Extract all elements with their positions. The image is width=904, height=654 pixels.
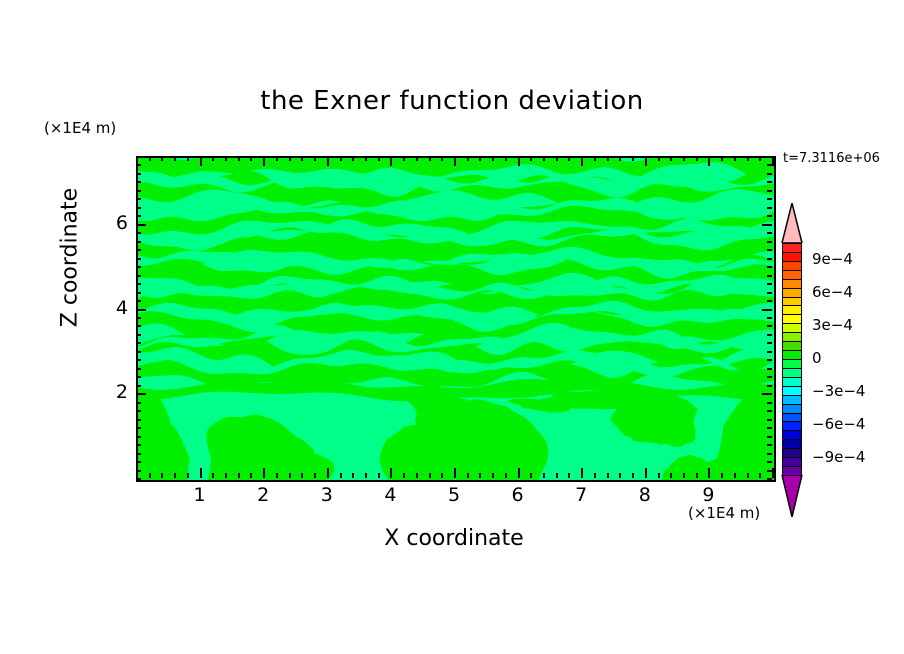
- x-major-tick-top: [454, 156, 456, 166]
- x-major-tick: [200, 468, 202, 478]
- y-minor-tick: [136, 232, 141, 234]
- y-minor-tick: [136, 164, 141, 166]
- x-minor-tick: [721, 473, 723, 478]
- y-minor-tick-right: [767, 300, 772, 302]
- x-minor-tick-top: [174, 156, 176, 161]
- x-minor-tick: [747, 473, 749, 478]
- x-major-tick: [454, 468, 456, 478]
- x-minor-tick: [403, 473, 405, 478]
- x-tick-label: 6: [498, 484, 538, 506]
- y-minor-tick-right: [767, 436, 772, 438]
- y-minor-tick: [136, 427, 141, 429]
- y-minor-tick: [136, 342, 141, 344]
- colorbar-tick-label: −6e−4: [812, 415, 865, 433]
- x-minor-tick-top: [441, 156, 443, 161]
- time-annotation: t=7.3116e+06: [783, 151, 880, 166]
- contour-field: [138, 158, 774, 480]
- colorbar-tick-label: −9e−4: [812, 448, 865, 466]
- x-tick-label: 5: [434, 484, 474, 506]
- x-minor-tick: [250, 473, 252, 478]
- y-minor-tick: [136, 359, 141, 361]
- x-minor-tick-top: [276, 156, 278, 161]
- y-minor-tick: [136, 385, 141, 387]
- x-minor-tick: [161, 473, 163, 478]
- x-major-tick: [327, 468, 329, 478]
- y-tick-label: 6: [88, 212, 128, 234]
- y-minor-tick-right: [767, 190, 772, 192]
- y-minor-tick-right: [767, 351, 772, 353]
- x-minor-tick-top: [161, 156, 163, 161]
- x-minor-tick: [276, 473, 278, 478]
- y-minor-tick-right: [767, 249, 772, 251]
- y-major-tick: [136, 224, 146, 226]
- x-minor-tick: [416, 473, 418, 478]
- colorbar-tick-label: −3e−4: [812, 382, 865, 400]
- x-minor-tick: [759, 473, 761, 478]
- x-minor-tick-top: [378, 156, 380, 161]
- x-minor-tick: [187, 473, 189, 478]
- x-minor-tick-top: [658, 156, 660, 161]
- x-tick-label: 1: [180, 484, 220, 506]
- y-minor-tick-right: [767, 215, 772, 217]
- x-minor-tick-top: [505, 156, 507, 161]
- y-minor-tick: [136, 300, 141, 302]
- y-minor-tick: [136, 181, 141, 183]
- x-minor-tick: [174, 473, 176, 478]
- x-minor-tick-top: [340, 156, 342, 161]
- y-minor-tick-right: [767, 427, 772, 429]
- y-axis-units-label: (×1E4 m): [44, 119, 116, 137]
- y-minor-tick-right: [767, 173, 772, 175]
- y-minor-tick-right: [767, 453, 772, 455]
- x-minor-tick-top: [556, 156, 558, 161]
- x-major-tick: [645, 468, 647, 478]
- y-minor-tick: [136, 275, 141, 277]
- y-minor-tick: [136, 351, 141, 353]
- x-minor-tick-top: [416, 156, 418, 161]
- y-minor-tick-right: [767, 292, 772, 294]
- page-title: the Exner function deviation: [0, 86, 904, 116]
- x-major-tick-top: [327, 156, 329, 166]
- x-minor-tick-top: [238, 156, 240, 161]
- x-minor-tick: [619, 473, 621, 478]
- y-minor-tick-right: [767, 275, 772, 277]
- y-minor-tick-right: [767, 241, 772, 243]
- x-tick-label: 8: [625, 484, 665, 506]
- y-major-tick-right: [762, 309, 772, 311]
- x-minor-tick-top: [696, 156, 698, 161]
- x-minor-tick-top: [747, 156, 749, 161]
- x-tick-label: 9: [688, 484, 728, 506]
- x-major-tick: [581, 468, 583, 478]
- y-minor-tick: [136, 258, 141, 260]
- x-minor-tick: [289, 473, 291, 478]
- x-minor-tick-top: [568, 156, 570, 161]
- y-minor-tick: [136, 478, 141, 480]
- y-axis-title: Z coordinate: [58, 138, 83, 378]
- y-major-tick: [136, 393, 146, 395]
- x-minor-tick-top: [721, 156, 723, 161]
- y-minor-tick: [136, 325, 141, 327]
- x-major-tick-top: [645, 156, 647, 166]
- contour-plot-area: [136, 156, 776, 482]
- y-minor-tick-right: [767, 156, 772, 158]
- colorbar-under-arrow: [779, 475, 805, 517]
- y-minor-tick-right: [767, 402, 772, 404]
- y-minor-tick-right: [767, 419, 772, 421]
- x-major-tick-top: [581, 156, 583, 166]
- y-minor-tick-right: [767, 258, 772, 260]
- x-tick-label: 2: [243, 484, 283, 506]
- x-minor-tick: [479, 473, 481, 478]
- x-minor-tick-top: [492, 156, 494, 161]
- y-minor-tick-right: [767, 207, 772, 209]
- y-minor-tick-right: [767, 461, 772, 463]
- x-tick-label: 4: [370, 484, 410, 506]
- x-minor-tick-top: [467, 156, 469, 161]
- x-minor-tick-top: [314, 156, 316, 161]
- x-minor-tick: [568, 473, 570, 478]
- x-major-tick-top: [390, 156, 392, 166]
- x-minor-tick: [696, 473, 698, 478]
- y-minor-tick: [136, 292, 141, 294]
- x-minor-tick-top: [429, 156, 431, 161]
- x-tick-label: 3: [307, 484, 347, 506]
- colorbar-tick-label: 6e−4: [812, 283, 853, 301]
- x-minor-tick-top: [250, 156, 252, 161]
- x-minor-tick: [238, 473, 240, 478]
- colorbar: [779, 203, 805, 517]
- x-minor-tick-top: [543, 156, 545, 161]
- x-minor-tick: [683, 473, 685, 478]
- y-minor-tick-right: [767, 232, 772, 234]
- x-major-tick: [772, 468, 774, 478]
- y-minor-tick: [136, 419, 141, 421]
- x-minor-tick: [594, 473, 596, 478]
- plot-canvas: the Exner function deviation (×1E4 m) (×…: [0, 0, 904, 654]
- x-minor-tick-top: [479, 156, 481, 161]
- colorbar-tick-label: 3e−4: [812, 316, 853, 334]
- y-minor-tick-right: [767, 478, 772, 480]
- x-major-tick: [263, 468, 265, 478]
- x-major-tick-top: [263, 156, 265, 166]
- x-minor-tick-top: [149, 156, 151, 161]
- x-minor-tick-top: [619, 156, 621, 161]
- colorbar-tick-label: 0: [812, 349, 822, 367]
- x-tick-label: 7: [561, 484, 601, 506]
- x-major-tick-top: [772, 156, 774, 166]
- x-major-tick: [708, 468, 710, 478]
- x-major-tick-top: [200, 156, 202, 166]
- x-minor-tick: [505, 473, 507, 478]
- colorbar-over-arrow: [779, 203, 805, 243]
- x-minor-tick-top: [301, 156, 303, 161]
- x-minor-tick: [632, 473, 634, 478]
- y-minor-tick-right: [767, 164, 772, 166]
- y-minor-tick: [136, 444, 141, 446]
- x-major-tick-top: [518, 156, 520, 166]
- x-minor-tick-top: [225, 156, 227, 161]
- x-minor-tick: [365, 473, 367, 478]
- y-minor-tick: [136, 266, 141, 268]
- y-minor-tick-right: [767, 385, 772, 387]
- y-major-tick-right: [762, 393, 772, 395]
- y-minor-tick-right: [767, 317, 772, 319]
- x-minor-tick-top: [734, 156, 736, 161]
- y-minor-tick-right: [767, 342, 772, 344]
- y-minor-tick: [136, 249, 141, 251]
- y-minor-tick-right: [767, 359, 772, 361]
- x-minor-tick: [429, 473, 431, 478]
- y-minor-tick-right: [767, 325, 772, 327]
- x-major-tick-top: [708, 156, 710, 166]
- x-major-tick: [390, 468, 392, 478]
- x-minor-tick-top: [530, 156, 532, 161]
- x-axis-units-label: (×1E4 m): [688, 504, 760, 522]
- y-minor-tick: [136, 470, 141, 472]
- x-minor-tick: [543, 473, 545, 478]
- y-minor-tick: [136, 402, 141, 404]
- x-minor-tick: [492, 473, 494, 478]
- y-minor-tick: [136, 283, 141, 285]
- x-minor-tick-top: [594, 156, 596, 161]
- x-minor-tick: [658, 473, 660, 478]
- y-tick-label: 4: [88, 297, 128, 319]
- x-minor-tick: [734, 473, 736, 478]
- y-minor-tick-right: [767, 444, 772, 446]
- y-minor-tick: [136, 453, 141, 455]
- y-minor-tick-right: [767, 410, 772, 412]
- y-minor-tick-right: [767, 470, 772, 472]
- y-major-tick-right: [762, 224, 772, 226]
- x-minor-tick-top: [683, 156, 685, 161]
- y-minor-tick-right: [767, 181, 772, 183]
- x-minor-tick-top: [670, 156, 672, 161]
- x-minor-tick-top: [352, 156, 354, 161]
- x-minor-tick-top: [187, 156, 189, 161]
- y-minor-tick: [136, 156, 141, 158]
- y-minor-tick: [136, 198, 141, 200]
- x-minor-tick-top: [289, 156, 291, 161]
- x-major-tick: [518, 468, 520, 478]
- x-minor-tick: [314, 473, 316, 478]
- y-minor-tick-right: [767, 266, 772, 268]
- y-minor-tick-right: [767, 368, 772, 370]
- x-minor-tick: [352, 473, 354, 478]
- x-minor-tick: [530, 473, 532, 478]
- colorbar-tick-label: 9e−4: [812, 250, 853, 268]
- y-minor-tick: [136, 334, 141, 336]
- y-minor-tick: [136, 368, 141, 370]
- x-axis-title: X coordinate: [136, 526, 772, 551]
- x-minor-tick: [670, 473, 672, 478]
- y-tick-label: 2: [88, 381, 128, 403]
- x-minor-tick-top: [759, 156, 761, 161]
- y-minor-tick: [136, 461, 141, 463]
- y-minor-tick: [136, 173, 141, 175]
- x-minor-tick: [340, 473, 342, 478]
- x-minor-tick: [225, 473, 227, 478]
- y-minor-tick: [136, 241, 141, 243]
- y-minor-tick-right: [767, 283, 772, 285]
- y-minor-tick: [136, 207, 141, 209]
- y-minor-tick-right: [767, 376, 772, 378]
- y-minor-tick: [136, 317, 141, 319]
- x-minor-tick: [149, 473, 151, 478]
- x-minor-tick: [212, 473, 214, 478]
- x-minor-tick: [556, 473, 558, 478]
- x-minor-tick: [301, 473, 303, 478]
- y-minor-tick: [136, 376, 141, 378]
- y-minor-tick: [136, 410, 141, 412]
- y-major-tick: [136, 309, 146, 311]
- x-minor-tick-top: [632, 156, 634, 161]
- x-minor-tick: [441, 473, 443, 478]
- x-minor-tick-top: [607, 156, 609, 161]
- y-minor-tick: [136, 436, 141, 438]
- x-minor-tick-top: [212, 156, 214, 161]
- y-minor-tick: [136, 190, 141, 192]
- x-minor-tick: [607, 473, 609, 478]
- x-minor-tick: [378, 473, 380, 478]
- y-minor-tick: [136, 215, 141, 217]
- x-minor-tick: [467, 473, 469, 478]
- y-minor-tick-right: [767, 334, 772, 336]
- y-minor-tick-right: [767, 198, 772, 200]
- x-minor-tick-top: [365, 156, 367, 161]
- x-minor-tick-top: [403, 156, 405, 161]
